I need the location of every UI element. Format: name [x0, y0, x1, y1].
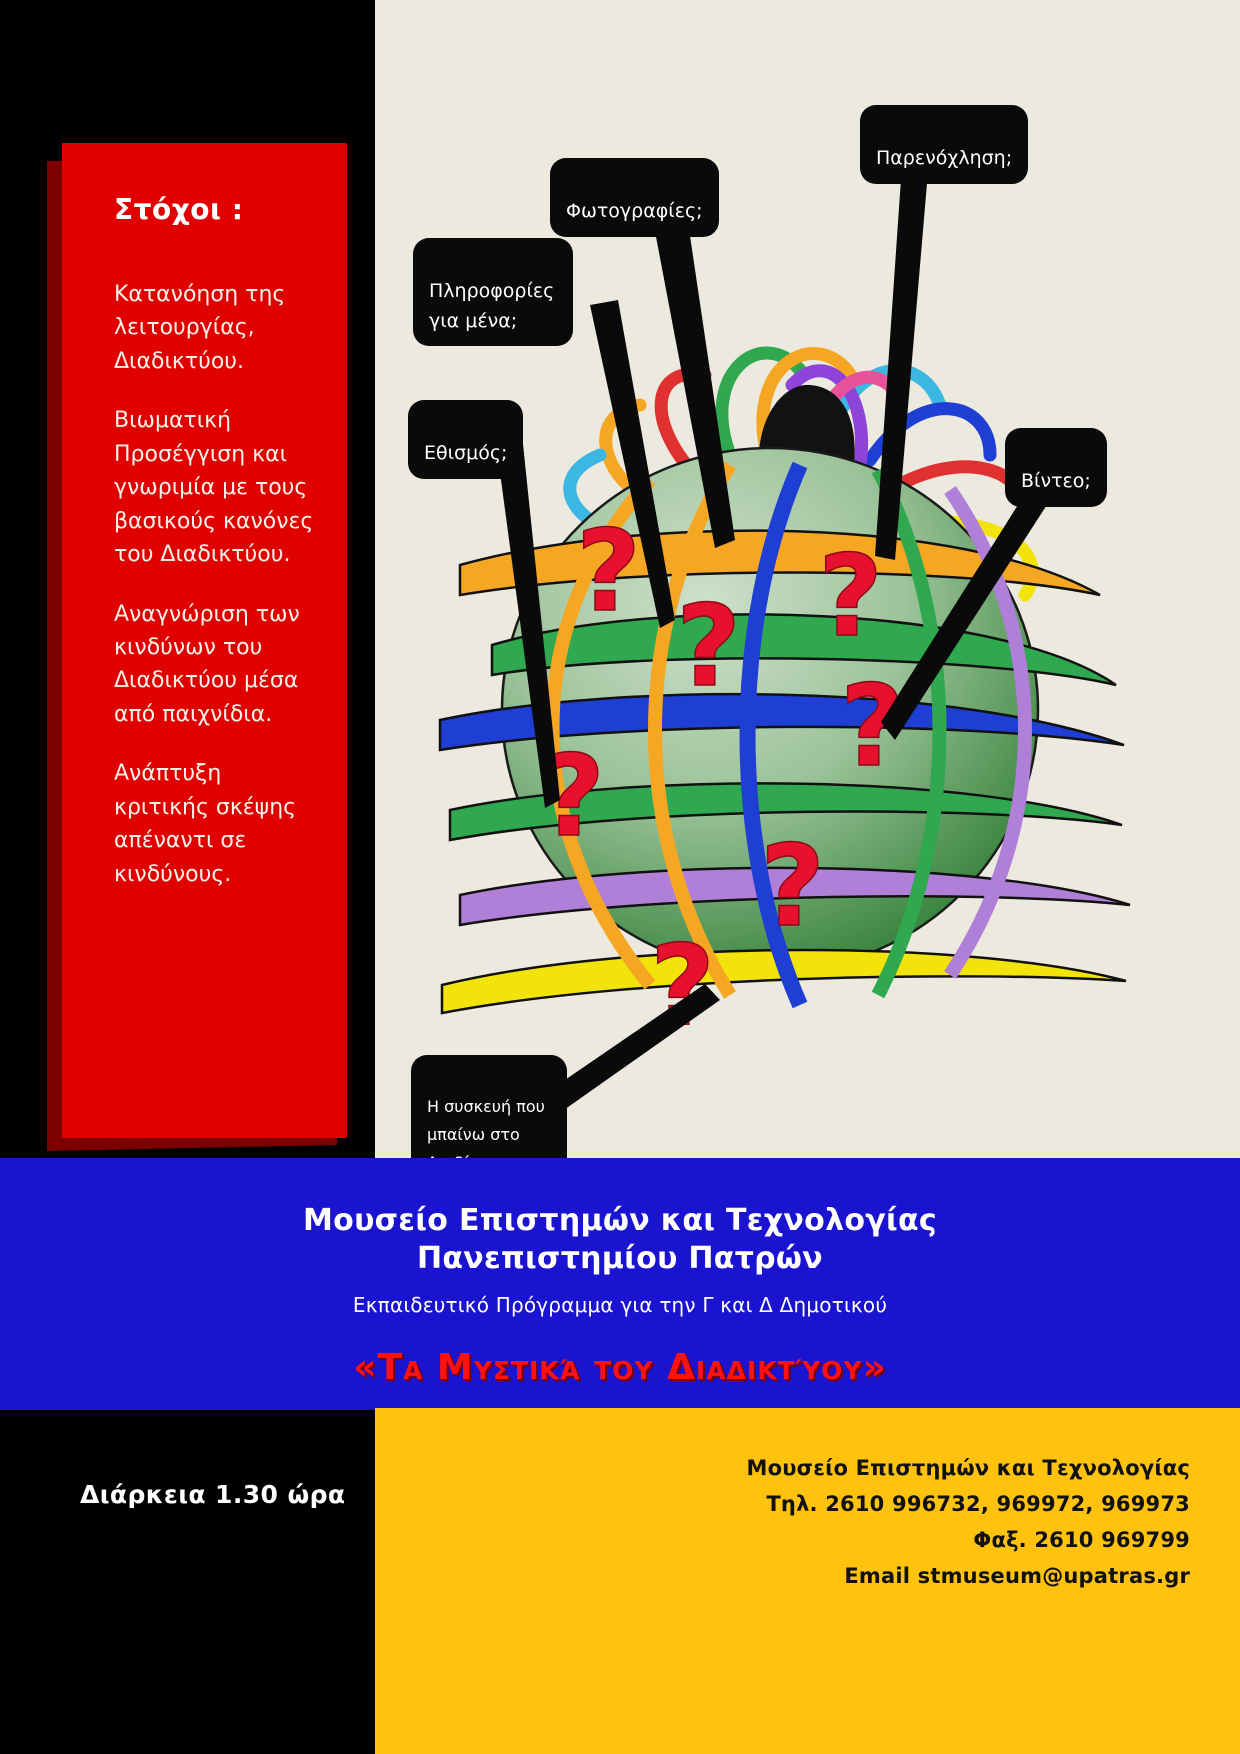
bubble-parenochlisi-label: Παρενόχληση; — [876, 147, 1012, 169]
contact-line[interactable]: Email stmuseum@upatras.gr — [375, 1558, 1190, 1594]
bubble-pointer-lines — [375, 0, 1240, 1158]
program-title: «Τα Μυστικά του Διαδικτύου» — [0, 1347, 1240, 1388]
pointer-siskevi — [543, 984, 720, 1112]
objectives-title: Στόχοι : — [114, 193, 321, 226]
poster-root: ? ? ? ? ? ? ? Παρενόχληση; Φωτογραφίες; — [0, 0, 1240, 1754]
bubble-parenochlisi[interactable]: Παρενόχληση; — [860, 105, 1028, 184]
bubble-fotografies[interactable]: Φωτογραφίες; — [550, 158, 719, 237]
bubble-ethismos[interactable]: Εθισμός; — [408, 400, 523, 479]
pointer-fotografies — [650, 202, 735, 548]
footer-blue-band: Μουσείο Επιστημών και Τεχνολογίας Πανεπι… — [0, 1158, 1240, 1410]
bubble-ethismos-label: Εθισμός; — [424, 442, 507, 464]
objectives-panel: Στόχοι : Κατανόηση της λειτουργίας, Διαδ… — [62, 143, 347, 1138]
duration-label: Διάρκεια 1.30 ώρα — [80, 1480, 345, 1509]
bubble-siskevi[interactable]: Η συσκευή που μπαίνω στο Διαδίκτυο; — [411, 1055, 567, 1158]
objective-item: Κατανόηση της λειτουργίας, Διαδικτύου. — [114, 278, 321, 378]
bubble-vinteo-label: Βίντεο; — [1021, 470, 1091, 492]
program-subtitle: Εκπαιδευτικό Πρόγραμμα για την Γ και Δ Δ… — [0, 1293, 1240, 1317]
bubble-siskevi-label: Η συσκευή που μπαίνω στο Διαδίκτυο; — [427, 1097, 545, 1158]
pointer-vinteo — [881, 470, 1063, 740]
pointer-plirofories — [590, 300, 675, 628]
objective-item: Βιωματική Προσέγγιση και γνωριμία με του… — [114, 404, 321, 571]
bubble-plirofories-label: Πληροφορίες για μένα; — [429, 280, 554, 331]
museum-name-line2: Πανεπιστημίου Πατρών — [0, 1240, 1240, 1278]
contact-line: Φαξ. 2610 969799 — [375, 1522, 1190, 1558]
contact-line: Τηλ. 2610 996732, 969972, 969973 — [375, 1486, 1190, 1522]
contact-box: Μουσείο Επιστημών και Τεχνολογίας Τηλ. 2… — [375, 1408, 1240, 1754]
objective-item: Ανάπτυξη κριτικής σκέψης απέναντι σε κιν… — [114, 757, 321, 891]
pointer-ethismos — [497, 444, 560, 808]
objective-item: Αναγνώριση των κινδύνων του Διαδικτύου μ… — [114, 598, 321, 732]
museum-name-line1: Μουσείο Επιστημών και Τεχνολογίας — [0, 1202, 1240, 1240]
bubble-plirofories[interactable]: Πληροφορίες για μένα; — [413, 238, 573, 346]
bubble-vinteo[interactable]: Βίντεο; — [1005, 428, 1107, 507]
bubble-fotografies-label: Φωτογραφίες; — [566, 200, 703, 222]
contact-line: Μουσείο Επιστημών και Τεχνολογίας — [375, 1450, 1190, 1486]
artwork-panel: ? ? ? ? ? ? ? Παρενόχληση; Φωτογραφίες; — [375, 0, 1240, 1158]
pointer-parenochlisi — [875, 148, 930, 560]
